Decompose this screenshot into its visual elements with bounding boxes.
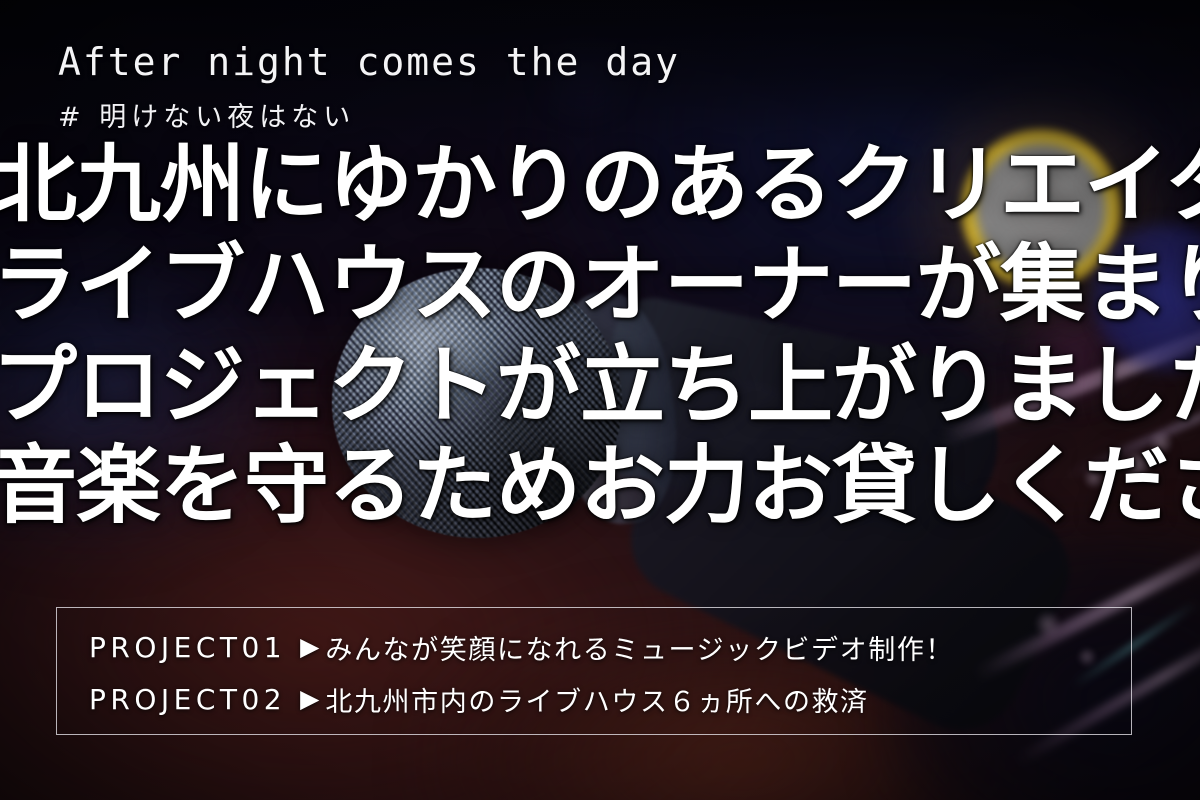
project-description: 北九州市内のライブハウス６ヵ所への救済	[325, 680, 868, 719]
headline-line-1: 北九州にゆかりのあるクリエイターと	[0, 136, 1200, 236]
project-label: PROJECT02	[89, 683, 286, 716]
project-row: PROJECT01 ▶ みんなが笑顔になれるミュージックビデオ制作！	[89, 628, 954, 667]
headline-line-2: ライブハウスのオーナーが集まり、	[0, 236, 1200, 336]
headline-line-4: 音楽を守るためお力お貸しください！	[0, 437, 1200, 537]
triangle-right-icon: ▶	[300, 634, 319, 659]
headline-block: 北九州にゆかりのあるクリエイターと ライブハウスのオーナーが集まり、 プロジェク…	[0, 136, 1200, 537]
project-list-box: PROJECT01 ▶ みんなが笑顔になれるミュージックビデオ制作！ PROJE…	[56, 607, 1132, 735]
hashtag-text: # 明けない夜はない	[58, 95, 355, 134]
banner-content: After night comes the day # 明けない夜はない 北九州…	[0, 0, 1200, 800]
project-description: みんなが笑顔になれるミュージックビデオ制作！	[325, 628, 954, 667]
headline-line-3: プロジェクトが立ち上がりました。	[0, 337, 1200, 437]
project-row: PROJECT02 ▶ 北九州市内のライブハウス６ヵ所への救済	[89, 680, 869, 719]
campaign-banner: After night comes the day # 明けない夜はない 北九州…	[0, 0, 1200, 800]
project-label: PROJECT01	[89, 631, 286, 664]
triangle-right-icon: ▶	[300, 686, 319, 711]
eyebrow-text: After night comes the day	[58, 40, 680, 84]
